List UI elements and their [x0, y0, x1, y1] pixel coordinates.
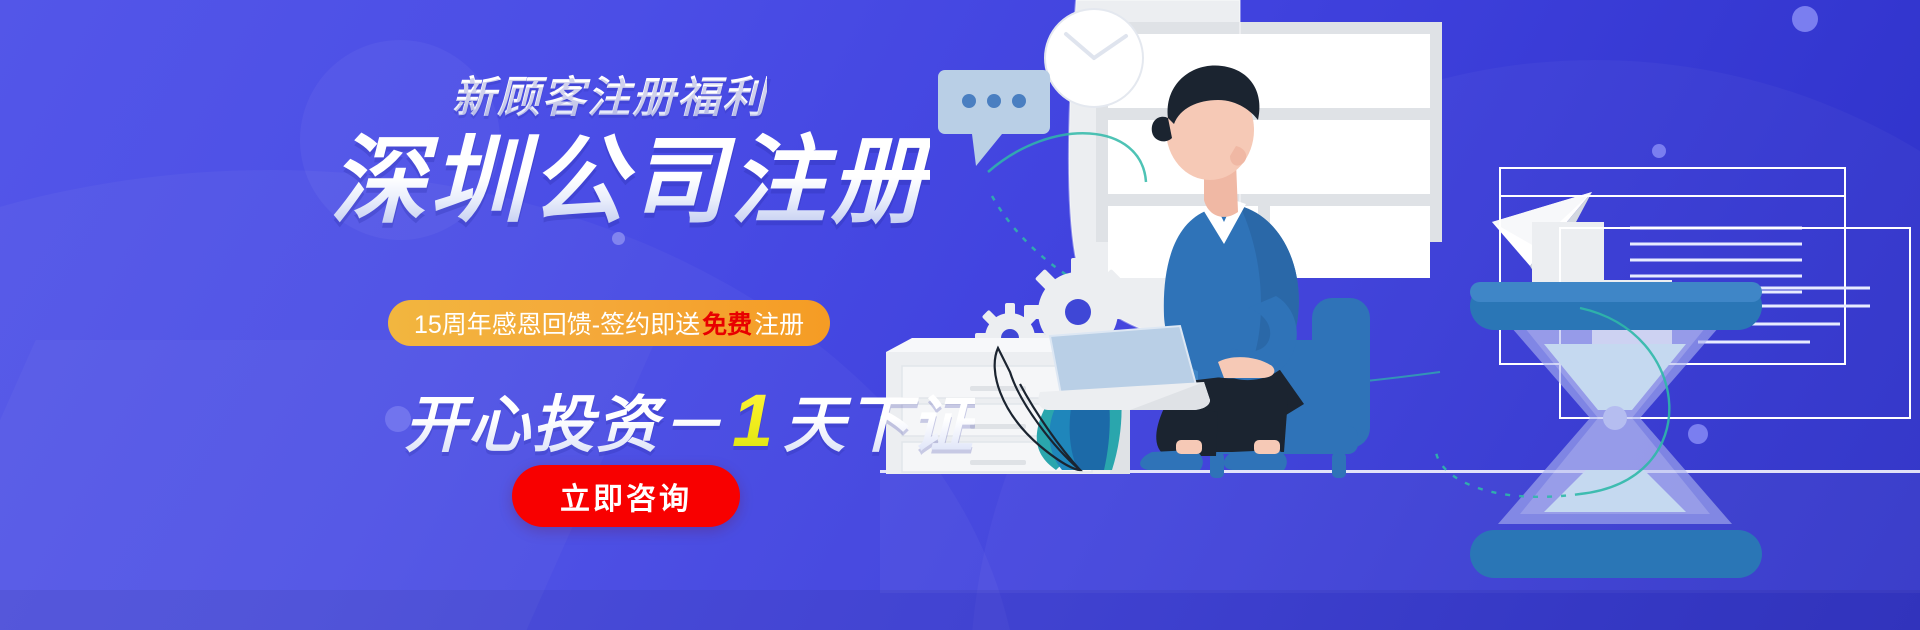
banner-subline: 开心投资－ 1 天下证	[404, 374, 975, 464]
promo-banner: 新顾客注册福利 深圳公司注册 15周年感恩回馈-签约即送 免费 注册 开心投资－…	[0, 0, 1920, 630]
subline-number: 1	[724, 378, 783, 463]
banner-headline: 深圳公司注册	[330, 131, 930, 233]
banner-eyebrow: 新顾客注册福利	[452, 63, 767, 125]
promo-badge: 15周年感恩回馈-签约即送 免费 注册	[388, 300, 830, 346]
subline-after: 天下证	[783, 374, 975, 464]
promo-badge-highlight: 免费	[700, 305, 754, 341]
banner-copy: 新顾客注册福利 深圳公司注册 15周年感恩回馈-签约即送 免费 注册 开心投资－…	[0, 0, 1060, 630]
promo-badge-suffix: 注册	[754, 305, 804, 341]
subline-before: 开心投资－	[404, 374, 724, 464]
consult-now-button[interactable]: 立即咨询	[512, 465, 740, 527]
promo-badge-prefix: 15周年感恩回馈-签约即送	[414, 305, 700, 341]
hourglass-icon	[1470, 282, 1762, 578]
